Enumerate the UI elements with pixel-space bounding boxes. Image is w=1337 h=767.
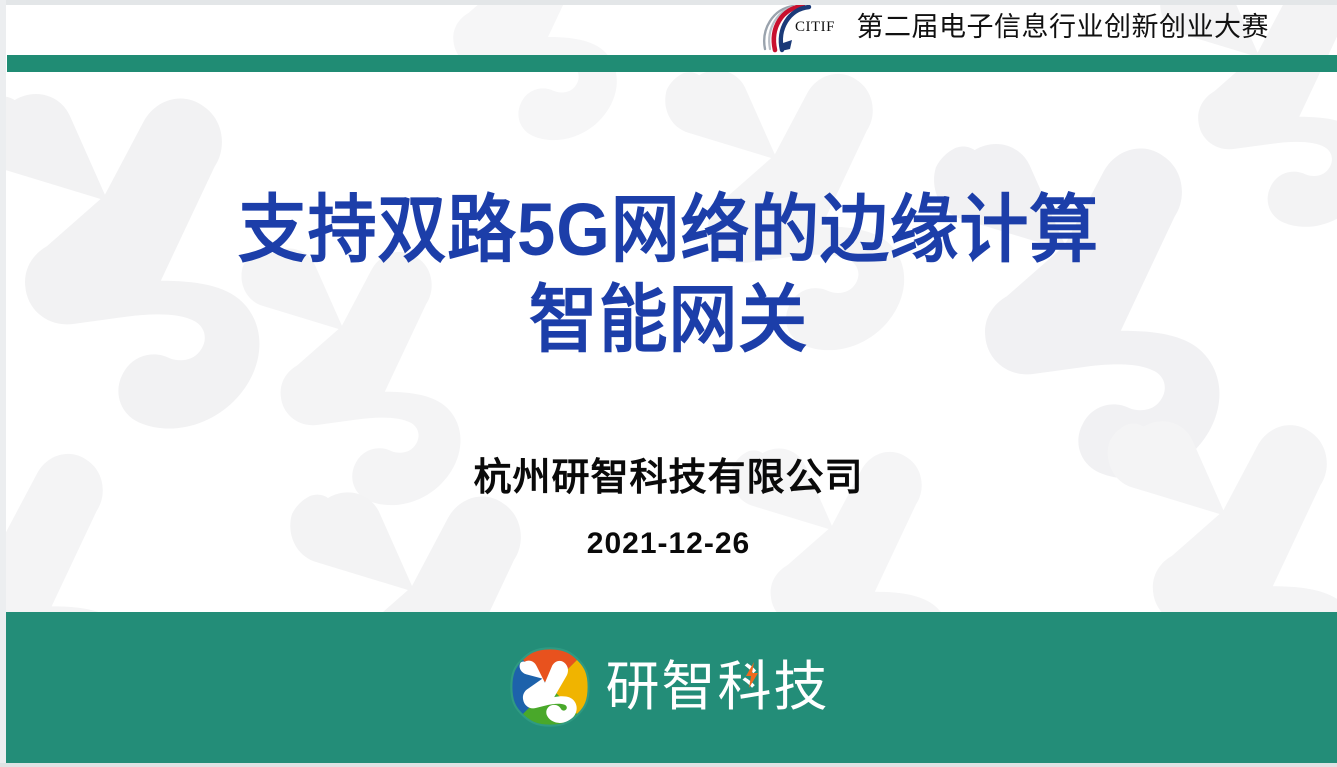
citif-logo-icon: CITIF xyxy=(759,3,841,53)
slide-frame-top xyxy=(0,0,1337,5)
company-name: 杭州研智科技有限公司 xyxy=(0,452,1337,504)
main-title-line-2: 智能网关 xyxy=(47,275,1290,365)
brand-logo: 研智科技 xyxy=(0,645,1337,729)
title-block: 支持双路5G网络的边缘计算 智能网关 xyxy=(0,185,1337,365)
slide-frame-bottom xyxy=(0,763,1337,767)
contest-title: 第二届电子信息行业创新创业大赛 xyxy=(857,14,1270,41)
yanzhi-yz-monogram-icon xyxy=(508,645,592,729)
presentation-date: 2021-12-26 xyxy=(0,522,1337,566)
svg-text:CITIF: CITIF xyxy=(795,19,835,35)
title-slide: CITIF 第二届电子信息行业创新创业大赛 支持双路5G网络的边缘计算 智能网关… xyxy=(0,0,1337,767)
main-title-line-1: 支持双路5G网络的边缘计算 xyxy=(47,185,1290,275)
brand-wordmark: 研智科技 xyxy=(606,657,830,717)
slide-header: CITIF 第二届电子信息行业创新创业大赛 xyxy=(0,0,1337,55)
header-green-rule xyxy=(7,55,1337,72)
brand-wordmark-wrapper: 研智科技 xyxy=(606,660,830,714)
slide-frame-left xyxy=(0,0,6,767)
meta-block: 杭州研智科技有限公司 2021-12-26 xyxy=(0,452,1337,566)
header-inner: CITIF 第二届电子信息行业创新创业大赛 xyxy=(759,3,1270,53)
